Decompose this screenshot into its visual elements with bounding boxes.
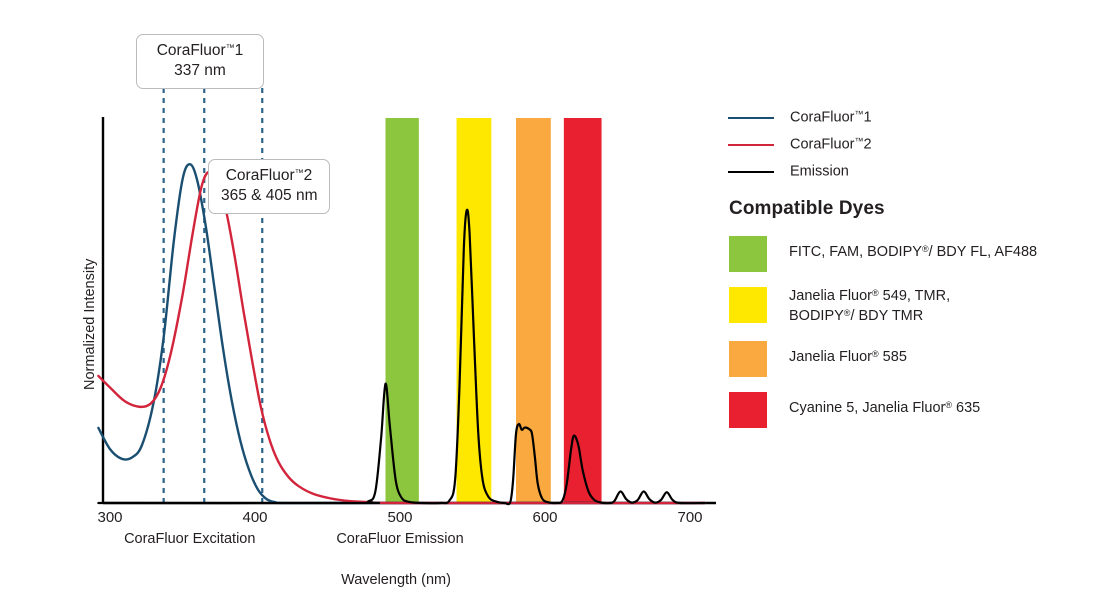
corafluor2-callout-title: CoraFluor <box>226 167 295 184</box>
dye-row-0: FITC, FAM, BODIPY®/ BDY FL, AF488 <box>729 236 1110 272</box>
y-axis-title: Normalized Intensity <box>82 259 98 390</box>
series-legend: CoraFluor™1CoraFluor™2Emission <box>728 104 1110 185</box>
corafluor1-callout-wavelength: 337 nm <box>149 61 251 81</box>
legend-label: Emission <box>790 163 849 180</box>
dye-row-1: Janelia Fluor® 549, TMR,BODIPY®/ BDY TMR <box>729 287 1110 326</box>
fluorescence-spectra-figure: Normalized Intensity 300400500600700 Cor… <box>0 0 1110 612</box>
dye-label-line2: BODIPY®/ BDY TMR <box>789 307 950 327</box>
dye-color-swatch <box>729 236 767 272</box>
green-band <box>386 118 419 503</box>
x-tick-label-300: 300 <box>97 509 122 526</box>
legend-label: CoraFluor™2 <box>790 136 872 153</box>
dye-color-swatch <box>729 287 767 323</box>
dye-color-swatch <box>729 341 767 377</box>
trademark-icon: ™ <box>295 168 304 178</box>
dye-label-line1: Cyanine 5, Janelia Fluor® 635 <box>789 399 980 419</box>
corafluor1-callout-index: 1 <box>235 42 244 59</box>
corafluor2-callout: CoraFluor™2365 & 405 nm <box>208 159 330 214</box>
compatible-dyes-list: FITC, FAM, BODIPY®/ BDY FL, AF488Janelia… <box>729 236 1110 443</box>
x-tick-label-400: 400 <box>242 509 267 526</box>
legend-row-1: CoraFluor™2 <box>728 131 1110 158</box>
legend-line-swatch <box>728 144 774 146</box>
x-tick-label-500: 500 <box>387 509 412 526</box>
dye-label: Janelia Fluor® 585 <box>789 341 907 368</box>
axis-section-label-excitation: CoraFluor Excitation <box>124 531 255 547</box>
registered-icon: ® <box>922 244 929 254</box>
corafluor2-callout-line1: CoraFluor™2 <box>221 166 317 186</box>
legend-row-2: Emission <box>728 158 1110 185</box>
dye-label-line1: FITC, FAM, BODIPY®/ BDY FL, AF488 <box>789 243 1037 263</box>
corafluor1-callout-title: CoraFluor <box>157 42 226 59</box>
axis-section-label-emission: CoraFluor Emission <box>336 531 463 547</box>
x-tick-label-600: 600 <box>532 509 557 526</box>
x-axis-title: Wavelength (nm) <box>341 572 451 588</box>
dye-row-2: Janelia Fluor® 585 <box>729 341 1110 377</box>
trademark-icon: ™ <box>226 43 235 53</box>
corafluor2-callout-wavelength: 365 & 405 nm <box>221 186 317 206</box>
legend-line-swatch <box>728 117 774 119</box>
red-band <box>564 118 602 503</box>
dye-label-line1: Janelia Fluor® 585 <box>789 348 907 368</box>
legend-line-swatch <box>728 171 774 173</box>
legend-label: CoraFluor™1 <box>790 109 872 126</box>
plot-area: Normalized Intensity 300400500600700 Cor… <box>0 0 740 612</box>
corafluor1-callout: CoraFluor™1337 nm <box>136 34 264 89</box>
dye-color-swatch <box>729 392 767 428</box>
corafluor2-callout-index: 2 <box>304 167 313 184</box>
dye-label-line1: Janelia Fluor® 549, TMR, <box>789 287 950 307</box>
compatible-dyes-heading: Compatible Dyes <box>729 198 885 220</box>
registered-icon: ® <box>872 349 879 359</box>
dye-label: Janelia Fluor® 549, TMR,BODIPY®/ BDY TMR <box>789 287 950 326</box>
legend-row-0: CoraFluor™1 <box>728 104 1110 131</box>
x-tick-label-700: 700 <box>677 509 702 526</box>
corafluor1-callout-line1: CoraFluor™1 <box>149 41 251 61</box>
dye-row-3: Cyanine 5, Janelia Fluor® 635 <box>729 392 1110 428</box>
dye-label: FITC, FAM, BODIPY®/ BDY FL, AF488 <box>789 236 1037 263</box>
dye-label: Cyanine 5, Janelia Fluor® 635 <box>789 392 980 419</box>
registered-icon: ® <box>872 288 879 298</box>
